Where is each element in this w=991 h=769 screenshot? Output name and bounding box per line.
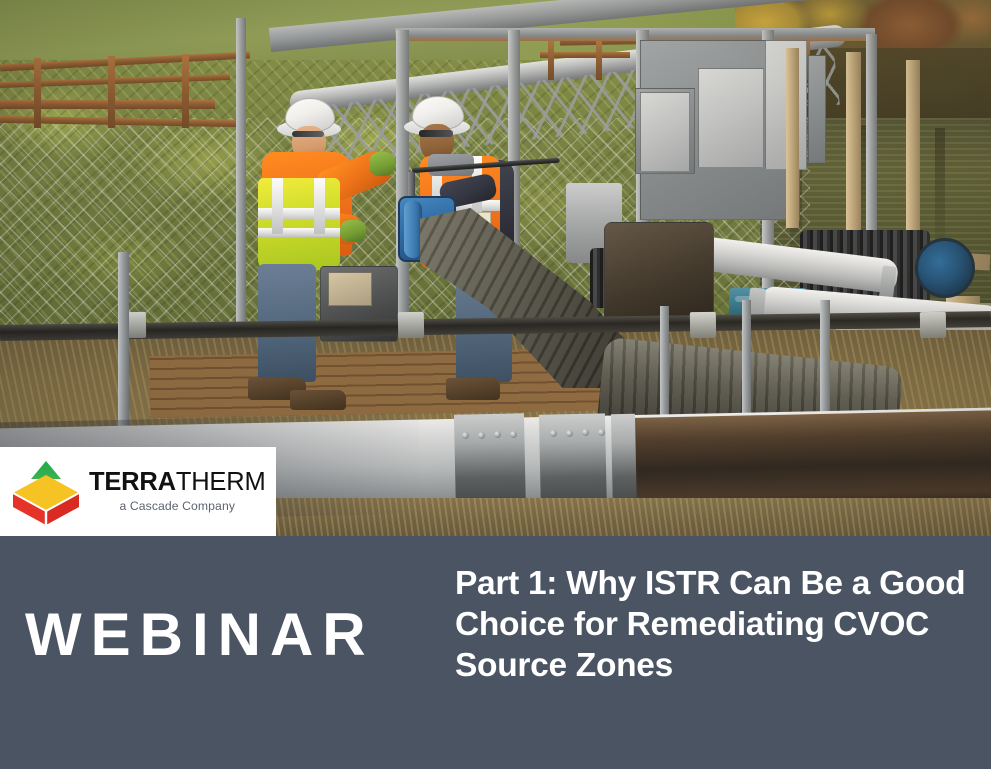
- work-glove: [369, 152, 395, 176]
- flange-bolt: [566, 430, 573, 437]
- wooden-post: [786, 48, 799, 228]
- blue-pipe-end: [915, 238, 975, 298]
- scaffold-post: [108, 56, 115, 128]
- terratherm-wordmark: TERRATHERM a Cascade Company: [89, 470, 266, 514]
- valve-flange-face: [404, 200, 422, 258]
- brand-tagline: a Cascade Company: [120, 499, 236, 513]
- terratherm-cube-logo-icon: [9, 457, 83, 527]
- scaffold-post: [548, 40, 554, 80]
- equipment-label-plate: [328, 272, 372, 306]
- scaffold-upright: [118, 252, 129, 442]
- pipe-collar: [398, 312, 424, 338]
- brand-name-light: THERM: [176, 468, 266, 496]
- scaffold-post: [596, 40, 602, 80]
- scaffold-post: [182, 54, 189, 128]
- pipe-collar: [920, 312, 946, 338]
- flange-bolt: [478, 432, 485, 439]
- webinar-title: Part 1: Why ISTR Can Be a Good Choice fo…: [455, 563, 985, 687]
- scaffold-post: [34, 58, 41, 128]
- control-panel-door: [698, 68, 764, 168]
- flange-bolt: [582, 429, 589, 436]
- brand-name-bold: TERRA: [89, 468, 176, 496]
- pipe-collar: [690, 312, 716, 338]
- vertical-conduit: [236, 18, 246, 338]
- brand-name: TERRATHERM: [89, 470, 266, 496]
- terratherm-logo-panel: TERRATHERM a Cascade Company: [0, 447, 276, 536]
- webinar-kicker: WEBINAR: [25, 605, 375, 665]
- electrical-enclosure: [808, 55, 826, 163]
- safety-glasses: [292, 131, 324, 137]
- webinar-promo-card: TERRATHERM a Cascade Company WEBINAR Par…: [0, 0, 991, 769]
- work-boot: [290, 390, 346, 410]
- flange-bolt: [462, 432, 469, 439]
- vest-reflective-stripe: [314, 178, 325, 234]
- flange-bolt: [494, 431, 501, 438]
- work-boot: [446, 378, 500, 400]
- cube-logo-svg: [9, 457, 83, 527]
- work-glove: [340, 220, 366, 242]
- junction-box: [640, 92, 690, 172]
- vest-reflective-stripe: [272, 178, 283, 234]
- flange-bolt: [510, 431, 517, 438]
- vest-reflective-stripe: [258, 228, 340, 237]
- flange-bolt: [598, 429, 605, 436]
- flange-bolt: [550, 430, 557, 437]
- vest-reflective-stripe: [258, 208, 340, 220]
- safety-glasses: [419, 130, 453, 137]
- hi-vis-vest: [258, 178, 340, 270]
